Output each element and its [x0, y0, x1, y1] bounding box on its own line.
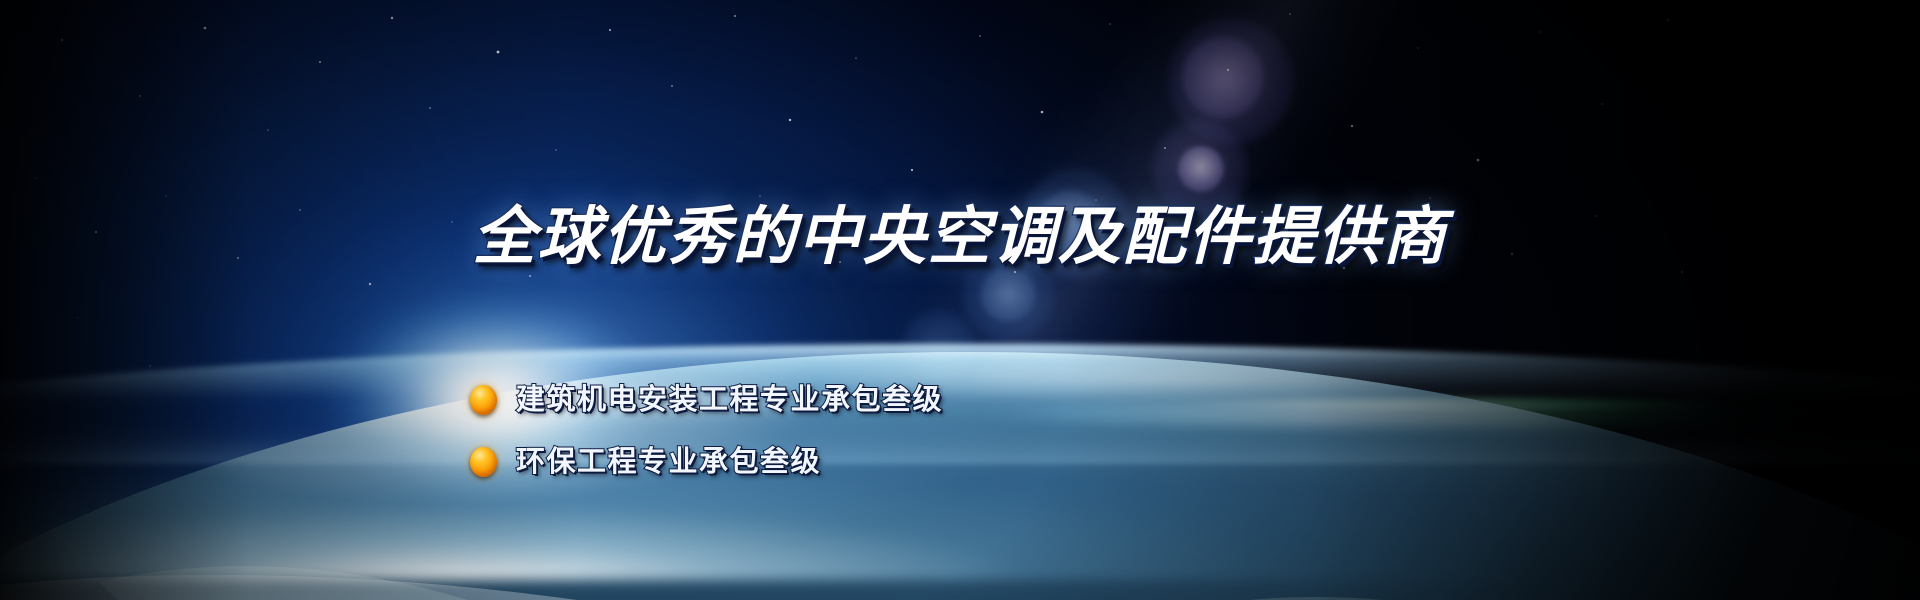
orange-dot-icon [470, 447, 497, 477]
orange-dot-icon [470, 385, 497, 415]
banner-content: 全球优秀的中央空调及配件提供商 建筑机电安装工程专业承包叁级 环保工程专业承包叁… [0, 0, 1920, 600]
hero-banner: 全球优秀的中央空调及配件提供商 建筑机电安装工程专业承包叁级 环保工程专业承包叁… [0, 0, 1920, 600]
list-item-label: 环保工程专业承包叁级 [516, 448, 821, 477]
list-item: 建筑机电安装工程专业承包叁级 [470, 378, 1230, 422]
list-item-label: 建筑机电安装工程专业承包叁级 [516, 386, 943, 415]
qualification-list: 建筑机电安装工程专业承包叁级 环保工程专业承包叁级 [470, 378, 1230, 502]
page-title: 全球优秀的中央空调及配件提供商 [0, 206, 1920, 269]
list-item: 环保工程专业承包叁级 [470, 440, 1230, 484]
